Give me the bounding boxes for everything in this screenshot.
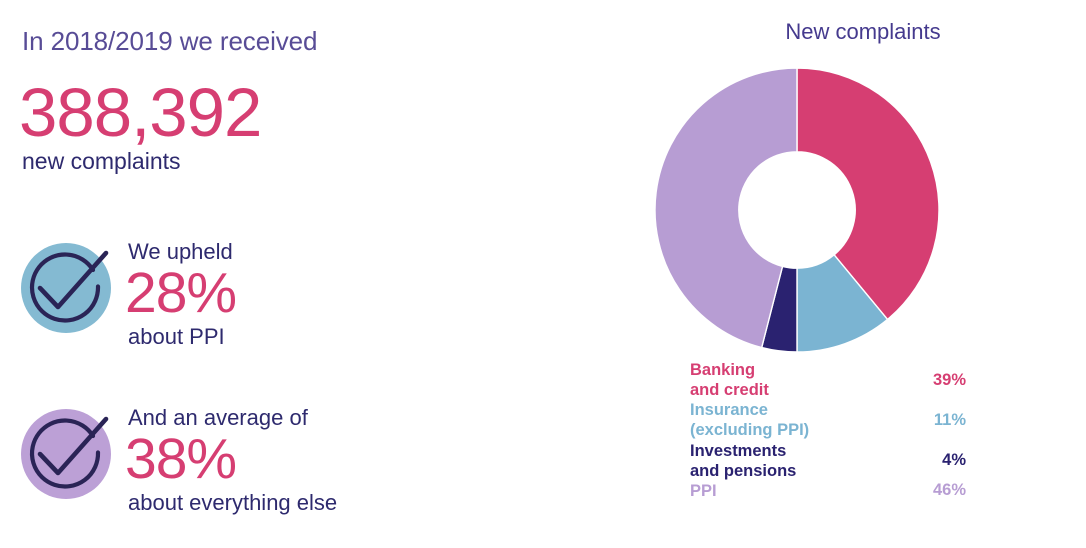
- legend-row: Insurance (excluding PPI)11%: [690, 400, 966, 440]
- legend-row: Investments and pensions4%: [690, 441, 966, 481]
- stat-percent: 38%: [125, 429, 548, 489]
- legend-label: Banking and credit: [690, 360, 769, 400]
- summary-panel: In 2018/2019 we received 388,392 new com…: [0, 0, 640, 548]
- stat-percent: 28%: [125, 263, 548, 323]
- total-complaints-number: 388,392: [19, 78, 261, 147]
- stat-label-top: And an average of: [128, 406, 548, 429]
- chart-legend: Banking and credit39%Insurance (excludin…: [690, 360, 966, 501]
- legend-value: 4%: [932, 451, 966, 470]
- donut-chart: [640, 0, 1086, 420]
- donut-chart-svg: [640, 0, 1086, 420]
- legend-label: Investments and pensions: [690, 441, 796, 481]
- legend-label: Insurance (excluding PPI): [690, 400, 809, 440]
- stat-text-everything-else: And an average of 38% about everything e…: [128, 406, 548, 514]
- headline-text: In 2018/2019 we received: [22, 26, 317, 57]
- legend-row: Banking and credit39%: [690, 360, 966, 400]
- total-complaints-caption: new complaints: [22, 148, 181, 175]
- check-circle-icon: [18, 406, 114, 502]
- legend-value: 11%: [924, 411, 966, 430]
- legend-value: 46%: [923, 481, 966, 500]
- stat-label-bottom: about PPI: [128, 325, 548, 348]
- stat-text-ppi: We upheld 28% about PPI: [128, 240, 548, 348]
- stat-label-top: We upheld: [128, 240, 548, 263]
- legend-value: 39%: [923, 371, 966, 390]
- legend-label: PPI: [690, 481, 717, 501]
- stat-label-bottom: about everything else: [128, 491, 548, 514]
- legend-row: PPI46%: [690, 481, 966, 501]
- check-circle-icon: [18, 240, 114, 336]
- new-complaints-chart-panel: New complaints Banking and credit39%Insu…: [640, 0, 1086, 548]
